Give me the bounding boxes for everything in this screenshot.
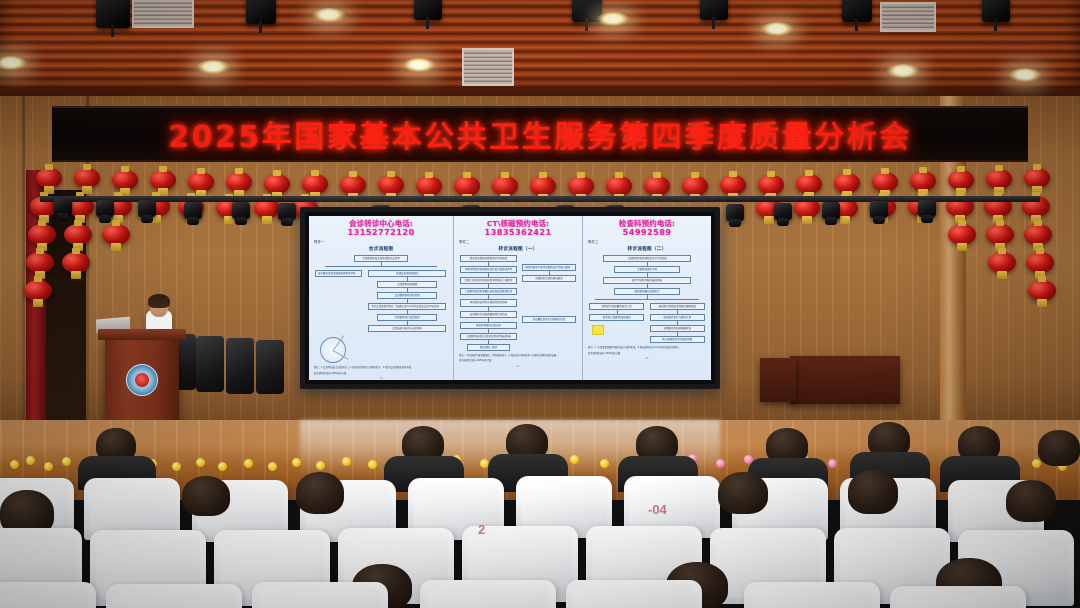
moving-head-light	[54, 198, 72, 215]
panel-3-flowchart: 上级医院患者病情稳定符合下转指征 主管医师提出下转 填写下转单并联系基层机构 基…	[588, 255, 706, 360]
hospital-logo-emblem	[126, 364, 158, 396]
flow-side-node: 本院具备诊疗条件的留院治疗并纳入慢病管理	[522, 264, 576, 271]
attendee-head	[182, 476, 230, 516]
red-lantern	[910, 171, 936, 191]
panel-1-page: - 1 -	[314, 377, 448, 380]
stage-side-table	[760, 358, 796, 402]
red-lantern	[834, 173, 860, 193]
moving-head-light	[870, 201, 888, 218]
moving-head-light	[726, 204, 744, 221]
red-lantern	[64, 224, 92, 245]
red-lantern	[682, 176, 708, 196]
red-lantern	[1026, 252, 1054, 273]
audience-chair[interactable]	[106, 584, 242, 608]
slide-panel-3: 检查科预约电话: 54992589 附件三 转诊流程图（二） 上级医院患者病情稳…	[582, 216, 711, 380]
red-lantern	[796, 174, 822, 194]
stage-chair	[196, 336, 224, 392]
stage-light-fixture	[982, 0, 1010, 22]
flow-connector-h	[325, 266, 438, 267]
ceiling-downlight	[596, 12, 630, 27]
slide-panel-1: 会诊转诊中心电话: 13152772120 附件一 会诊流程图 主管医师提出会诊…	[309, 216, 453, 380]
flow-branch-node: 联系原上级医院绿色通道	[589, 314, 644, 321]
flow-side-node: 急危重症患者先行抢救后转诊	[522, 316, 576, 323]
attendee-head	[718, 472, 768, 514]
seat-number: 2	[478, 522, 485, 537]
flow-node: 开具转诊证明并完善相关检查资料	[460, 299, 517, 306]
red-lantern	[340, 175, 366, 195]
flow-connector	[488, 307, 489, 311]
flow-node: 急危重症患者或疑难病例需多学科会诊	[315, 270, 362, 277]
slide-content: 会诊转诊中心电话: 13152772120 附件一 会诊流程图 主管医师提出会诊…	[309, 216, 711, 380]
panel-1-footnote: 备注：1.会诊单应由主治医师以上人员填写并经科主任审核签字。2.院外会诊须报医务…	[314, 366, 448, 369]
flow-node: 会诊结束记录归入病历保存	[368, 325, 446, 332]
flow-node: 上级医院患者病情稳定符合下转指征	[603, 255, 690, 262]
led-banner: 2025年国家基本公共卫生服务第四季度质量分析会	[52, 106, 1028, 162]
red-lantern	[872, 172, 898, 192]
red-lantern	[1024, 168, 1050, 188]
speaker-hair	[148, 294, 170, 308]
red-lantern	[644, 176, 670, 196]
attendee-head	[1038, 430, 1080, 466]
panel-1-flowchart: 主管医师提出会诊申请填写会诊单 急危重症患者或疑难病例需多学科会诊 普通会诊由科…	[314, 255, 448, 380]
red-lantern	[102, 224, 130, 245]
panel-1-phone-number: 13152772120	[314, 228, 448, 237]
moving-head-light	[96, 200, 114, 217]
flow-node: 纳入家庭医生签约服务管理	[650, 336, 705, 343]
red-lantern	[24, 280, 52, 301]
ceiling-downlight	[760, 22, 794, 37]
ceiling-downlight	[312, 8, 346, 23]
flow-node: 主管医师提出下转	[614, 266, 680, 273]
panel-3-phone-number: 54992589	[588, 228, 706, 237]
red-lantern	[530, 176, 556, 196]
attendee-head	[1006, 480, 1056, 522]
red-lantern	[986, 224, 1014, 245]
flow-node: 制定康复治疗与随访计划	[650, 314, 705, 321]
flow-node: 需要上转的填写双向转诊单并联系上级医院	[460, 277, 517, 284]
flow-connector-h	[595, 299, 699, 300]
flow-node: 转出科室做好交接记录	[460, 322, 517, 329]
slide-panel-2: CT\核磁预约电话: 13835362421 附件二 转诊流程图（一） 患者就诊…	[453, 216, 582, 380]
red-lantern	[988, 252, 1016, 273]
red-lantern	[150, 170, 176, 190]
red-lantern	[492, 176, 518, 196]
speaker-podium	[105, 338, 179, 426]
audience-chair[interactable]	[744, 582, 880, 608]
red-lantern	[36, 168, 62, 188]
ceiling-vent	[132, 0, 194, 28]
banner-text: 2025年国家基本公共卫生服务第四季度质量分析会	[168, 112, 912, 156]
flow-node: 填写下转单并联系基层机构	[603, 277, 690, 284]
moving-head-light	[184, 202, 202, 219]
panel-3-tag: 附件三	[588, 239, 706, 244]
audience-chair[interactable]	[890, 586, 1026, 608]
red-lantern	[948, 224, 976, 245]
stage-light-fixture	[414, 0, 442, 20]
flow-node: 书写会诊意见并签名（普通会诊24小时内完成急会诊10分钟内到场）	[368, 303, 446, 310]
flow-branch-node: 病情反复或加重的再次上转	[589, 303, 644, 310]
panel-2-flowchart: 患者就诊经接诊医师初步评估病情 判断本院是否具备相应诊疗能力及救治条件 需要上转…	[459, 255, 577, 368]
moving-head-light	[774, 203, 792, 220]
red-lantern	[112, 170, 138, 190]
seat-number: -04	[648, 502, 667, 517]
red-lantern	[74, 168, 100, 188]
ceiling-vent	[880, 2, 936, 32]
stage-chair	[226, 338, 254, 394]
stage-side-table	[790, 356, 900, 404]
red-lantern	[1028, 280, 1056, 301]
red-lantern	[226, 172, 252, 192]
flow-node: 登记归档，随访	[467, 344, 511, 351]
panel-1-phone: 会诊转诊中心电话: 13152772120	[314, 220, 448, 237]
red-lantern	[758, 175, 784, 195]
red-lantern	[1024, 224, 1052, 245]
wall-seam	[22, 96, 25, 426]
flow-node: 上级医院接诊后反馈诊疗情况至基层机构	[460, 333, 517, 340]
red-lantern	[264, 174, 290, 194]
stage-light-fixture	[246, 0, 276, 24]
flow-node: 普通会诊由科室联系	[368, 270, 446, 277]
audience-chair[interactable]	[420, 580, 556, 608]
moving-head-light	[822, 202, 840, 219]
panel-3-page: - 3 -	[588, 357, 706, 360]
panel-3-title: 转诊流程图（二）	[588, 246, 706, 252]
panel-2-tag: 附件二	[459, 239, 577, 244]
red-lantern	[188, 172, 214, 192]
flow-node: 基层机构确认接收能力	[614, 288, 680, 295]
panel-3-footnote: 备注：1.下转患者须做好资料交接与用药衔接。2.基层机构应在24小时内完成首次随…	[588, 346, 706, 349]
flow-node: 会诊医师到场诊查患者	[377, 292, 437, 299]
flow-node: 判断本院是否具备相应诊疗能力及救治条件	[460, 266, 517, 273]
red-lantern	[720, 175, 746, 195]
ceiling-downlight	[402, 58, 436, 73]
stage-chair	[256, 340, 284, 394]
flow-side-node: 病情稳定后回转基层随访	[522, 275, 576, 282]
red-lantern	[606, 176, 632, 196]
flow-node: 安排救护车或由家属陪同护送转运	[460, 311, 517, 318]
red-lantern	[568, 176, 594, 196]
ceiling-downlight	[1008, 68, 1042, 83]
audience-seating-area: 2 -04 2	[0, 430, 1080, 608]
audience-chair[interactable]	[0, 582, 96, 608]
stage-light-fixture	[842, 0, 872, 22]
podium-top-surface	[98, 329, 186, 340]
panel-2-footnote: 备注：1.转诊须严格掌握指征，不得推诿病人。2.转运途中须有医护人员陪同并携带急…	[459, 354, 577, 357]
attendee-head	[848, 470, 898, 514]
red-lantern	[416, 176, 442, 196]
flow-node: 主管医师提出会诊申请填写会诊单	[354, 255, 408, 262]
panel-2-page: - 2 -	[459, 365, 577, 368]
stage-light-fixture	[96, 0, 130, 28]
red-lantern	[302, 174, 328, 194]
panel-3-subfootnote: 医务科制定发布 2025年修订版	[588, 352, 706, 355]
red-lantern	[62, 252, 90, 273]
led-presentation-screen[interactable]: 会诊转诊中心电话: 13152772120 附件一 会诊流程图 主管医师提出会诊…	[300, 207, 720, 389]
ceiling-downlight	[196, 60, 230, 75]
panel-2-phone: CT\核磁预约电话: 13835362421	[459, 220, 577, 237]
panel-3-phone: 检查科预约电话: 54992589	[588, 220, 706, 237]
audience-chair[interactable]	[566, 580, 702, 608]
flow-node: 基层医疗机构接诊并建立健康档案	[650, 303, 705, 310]
panel-1-title: 会诊流程图	[314, 246, 448, 252]
stage-light-fixture	[700, 0, 728, 20]
audience-chair[interactable]	[252, 582, 388, 608]
red-lantern	[948, 170, 974, 190]
flow-node: 定期随访并记录健康状况	[650, 325, 705, 332]
panel-2-subfootnote: 医务科制定发布 2025年修订版	[459, 359, 577, 362]
red-lantern	[986, 169, 1012, 189]
red-lantern	[28, 224, 56, 245]
attendee-head	[296, 472, 344, 514]
highlight-marker	[592, 325, 604, 335]
moving-head-light	[138, 200, 156, 217]
flow-node: 会诊医师接到通知	[377, 281, 437, 288]
moving-head-light	[278, 203, 296, 220]
moving-head-light	[232, 202, 250, 219]
panel-1-tag: 附件一	[314, 239, 448, 244]
ceiling-downlight	[886, 64, 920, 79]
auditorium-scene: 2025年国家基本公共卫生服务第四季度质量分析会	[0, 0, 1080, 608]
ceiling-vent	[462, 48, 514, 86]
red-lantern	[26, 252, 54, 273]
red-lantern	[454, 176, 480, 196]
flow-node: 主管医师执行会诊意见	[377, 314, 437, 321]
moving-head-light	[918, 200, 936, 217]
panel-2-title: 转诊流程图（一）	[459, 246, 577, 252]
flow-node: 患者就诊经接诊医师初步评估病情	[460, 255, 517, 262]
flow-node: 上级医院接诊科室确认床位及接诊医师信息	[460, 288, 517, 295]
panel-1-subfootnote: 医务科制定发布 2025年修订版	[314, 372, 448, 375]
red-lantern	[378, 175, 404, 195]
circular-diagram	[320, 337, 346, 363]
panel-2-phone-number: 13835362421	[459, 228, 577, 237]
